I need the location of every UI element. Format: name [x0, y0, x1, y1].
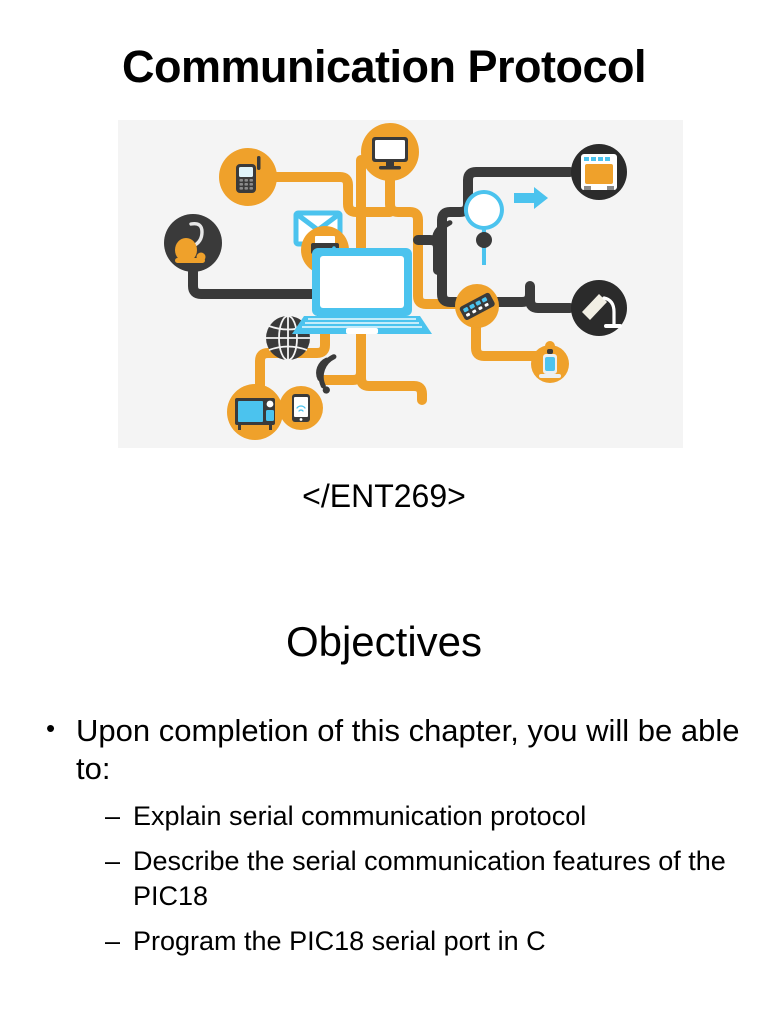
bullet-item-level2: – Program the PIC18 serial port in C [105, 924, 740, 959]
smartphone-icon [279, 386, 323, 430]
monitor-icon [361, 123, 419, 181]
bullet-item-level2: – Describe the serial communication feat… [105, 844, 740, 913]
remote-control-icon [455, 284, 499, 328]
bullet-text: Explain serial communication protocol [133, 801, 586, 831]
bullet-item-level2: – Explain serial communication protocol [105, 799, 740, 834]
bullet-text: Describe the serial communication featur… [133, 846, 726, 911]
kettle-icon [531, 345, 569, 383]
bullet-item-level1: • Upon completion of this chapter, you w… [40, 712, 740, 788]
desk-lamp-icon [571, 280, 627, 336]
bullet-text: Program the PIC18 serial port in C [133, 926, 546, 956]
washing-machine-icon [571, 144, 627, 200]
laptop-icon [292, 248, 432, 334]
course-code-label: </ENT269> [0, 478, 768, 515]
objectives-bullet-list: • Upon completion of this chapter, you w… [40, 712, 740, 959]
bullet-marker-dash: – [105, 844, 120, 879]
network-illustration [118, 120, 683, 448]
presentation-slide: Communication Protocol [0, 0, 768, 1024]
cordless-phone-icon [219, 148, 277, 206]
objectives-heading: Objectives [0, 618, 768, 666]
page-title: Communication Protocol [0, 42, 768, 92]
bullet-marker-dash: – [105, 799, 120, 834]
microwave-icon [227, 384, 283, 440]
vacuum-cleaner-icon [164, 214, 222, 272]
bullet-marker-dot: • [46, 711, 55, 746]
bullet-text: Upon completion of this chapter, you wil… [76, 713, 739, 786]
bullet-marker-dash: – [105, 924, 120, 959]
